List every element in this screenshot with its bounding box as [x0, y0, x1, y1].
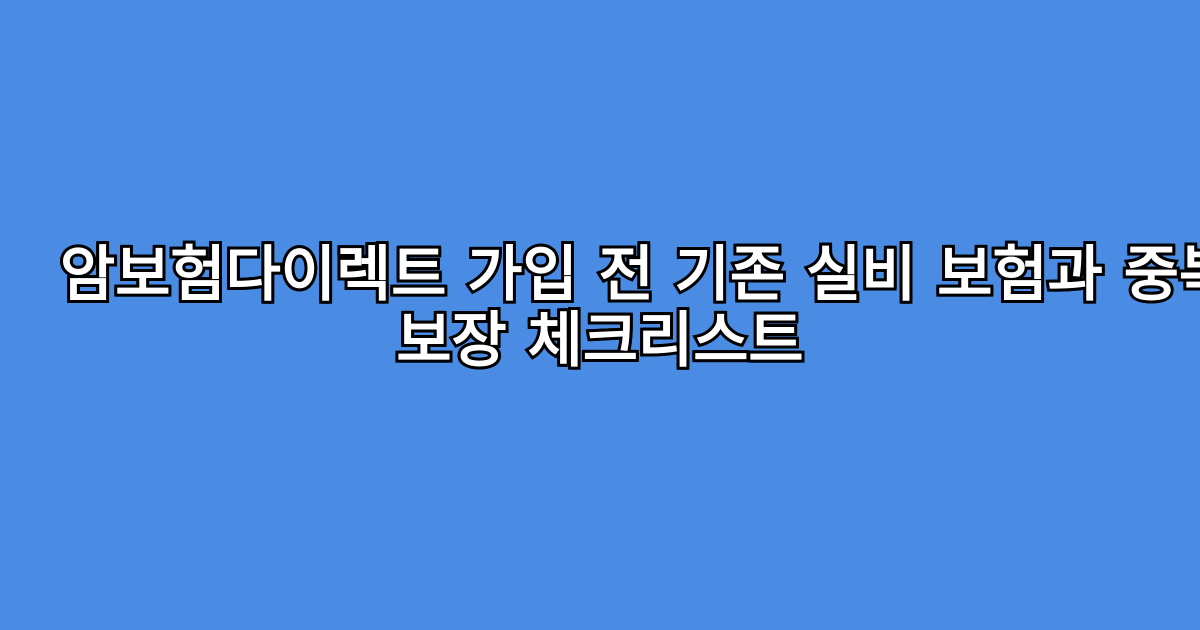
page-title: 암보험다이렉트 가입 전 기존 실비 보험과 중복 보장 체크리스트 [60, 242, 1140, 374]
title-line-2: 보장 체크리스트 [60, 308, 1140, 374]
title-line-1: 암보험다이렉트 가입 전 기존 실비 보험과 중복 [60, 242, 1140, 308]
banner-card: 암보험다이렉트 가입 전 기존 실비 보험과 중복 보장 체크리스트 [0, 0, 1200, 630]
